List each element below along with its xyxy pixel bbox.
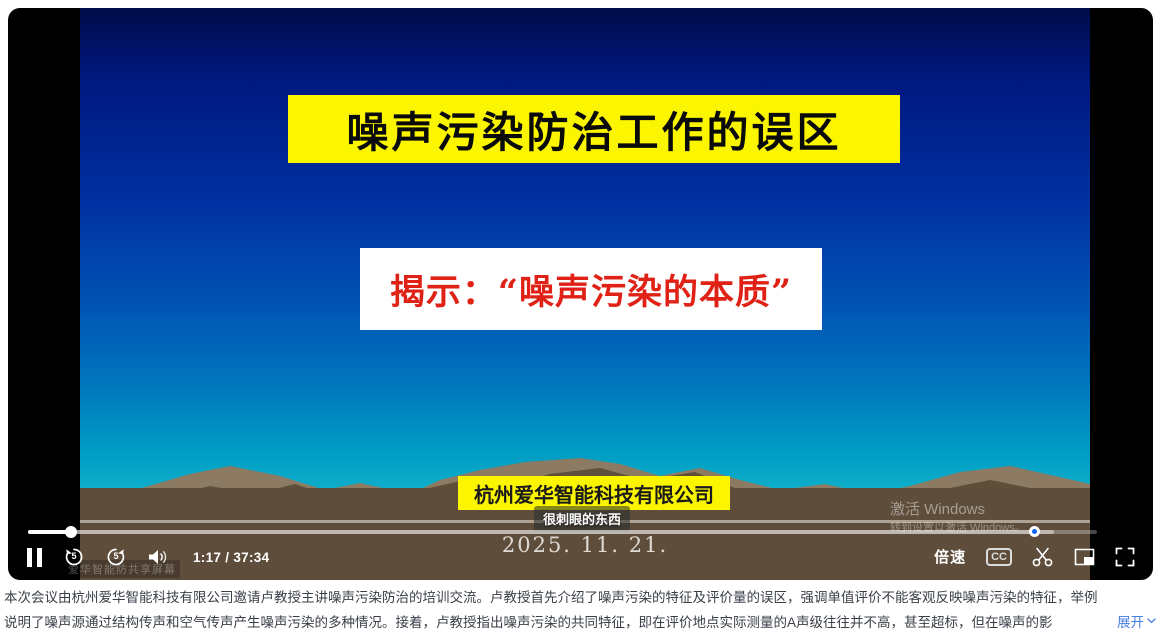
slide-title-band: 噪声污染防治工作的误区 [288,95,900,163]
slide-company-band: 杭州爱华智能科技有限公司 [458,476,730,510]
rewind-5-label: 5 [63,552,85,561]
description-line-2: 说明了噪声源通过结构传声和空气传声产生噪声污染的多种情况。接着，卢教授指出噪声污… [4,610,1157,635]
player-controls: 5 5 1:17 / [8,522,1153,580]
progress-bar[interactable] [28,529,1097,535]
video-player[interactable]: 噪声污染防治工作的误区 揭示：“噪声污染的本质” 杭州爱华智能科技有限公司 20… [8,8,1153,580]
video-page: 噪声污染防治工作的误区 揭示：“噪声污染的本质” 杭州爱华智能科技有限公司 20… [0,0,1161,637]
pause-button[interactable] [26,548,43,567]
time-display: 1:17 / 37:34 [193,550,269,565]
chevron-down-icon [1146,614,1157,629]
controls-left-group: 5 5 1:17 / [26,546,269,568]
forward-5-icon[interactable]: 5 [105,546,127,568]
description-line-1: 本次会议由杭州爱华智能科技有限公司邀请卢教授主讲噪声污染防治的培训交流。卢教授首… [4,585,1157,610]
volume-icon[interactable] [147,548,169,566]
fullscreen-icon[interactable] [1115,547,1135,567]
progress-buffer [28,530,1054,534]
video-stage[interactable]: 噪声污染防治工作的误区 揭示：“噪声污染的本质” 杭州爱华智能科技有限公司 20… [80,8,1090,580]
video-description: 本次会议由杭州爱华智能科技有限公司邀请卢教授主讲噪声污染防治的培训交流。卢教授首… [4,585,1157,637]
volume-handle-dot [1032,529,1037,534]
slide-subtitle-band: 揭示：“噪声污染的本质” [360,248,822,330]
playback-speed-button[interactable]: 倍速 [934,546,966,567]
volume-slider-handle[interactable] [1029,526,1040,537]
controls-right-group: 倍速 CC [934,546,1135,567]
forward-5-label: 5 [105,552,127,561]
rewind-5-icon[interactable]: 5 [63,546,85,568]
captions-cc-button[interactable]: CC [986,548,1012,566]
expand-description-button[interactable]: 展开 [1105,611,1157,631]
slide-title: 噪声污染防治工作的误区 [346,99,841,160]
expand-label: 展开 [1117,611,1144,631]
slide-subtitle: 揭示：“噪声污染的本质” [390,264,792,315]
windows-activation-title: 激活 Windows [890,500,1090,520]
picture-in-picture-icon[interactable] [1074,548,1095,566]
scissors-icon[interactable] [1032,547,1054,567]
progress-scrubber-handle[interactable] [65,526,77,538]
slide-company-name: 杭州爱华智能科技有限公司 [474,479,714,508]
